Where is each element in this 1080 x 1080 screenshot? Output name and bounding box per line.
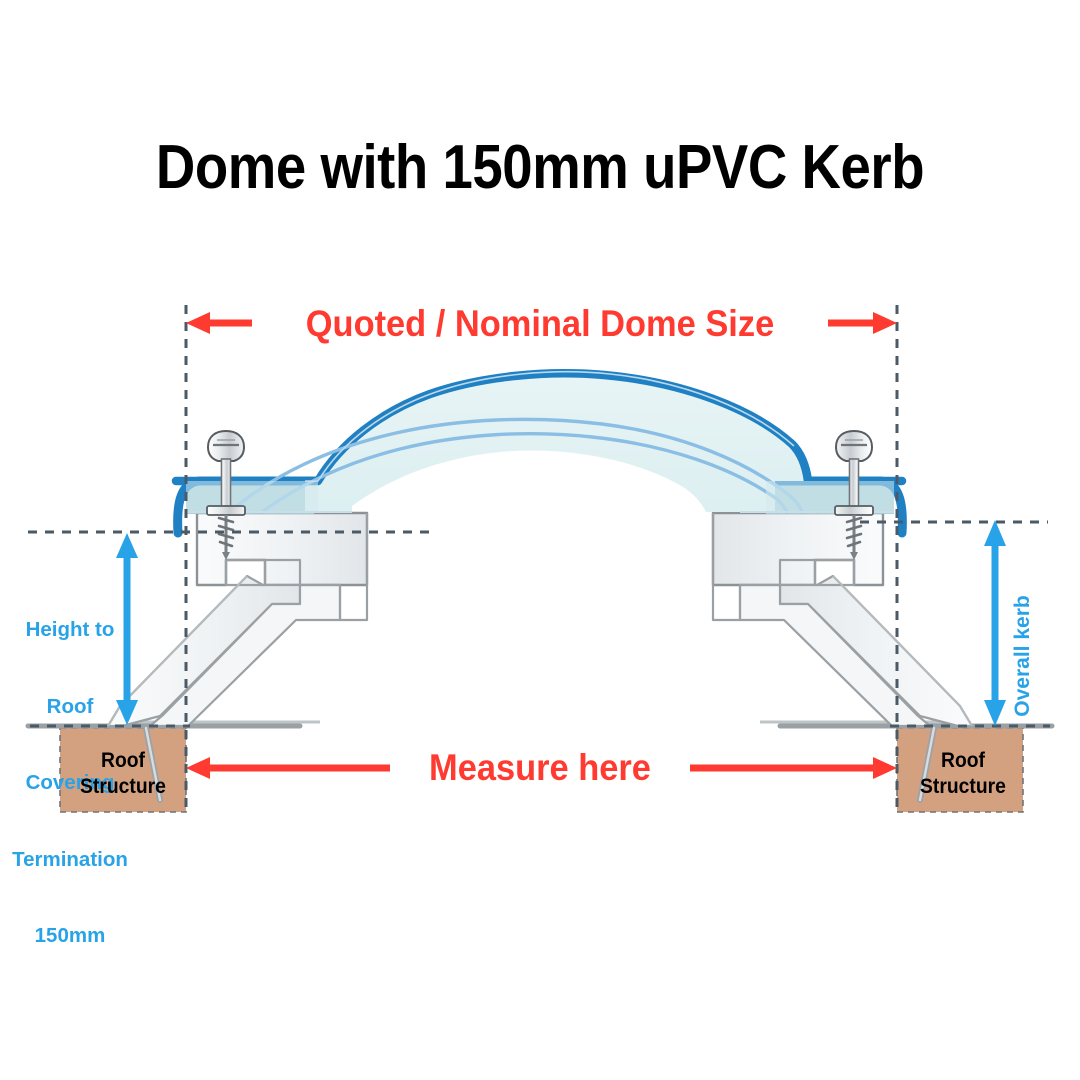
left-height-line-1: Height to bbox=[4, 617, 136, 643]
label-roof-structure-right: Roof Structure bbox=[905, 748, 1021, 800]
left-height-line-2: Roof bbox=[4, 694, 136, 720]
label-measure-here: Measure here bbox=[252, 747, 829, 789]
roof-right-line-1: Roof bbox=[905, 748, 1021, 774]
roof-left-line-1: Roof bbox=[65, 748, 181, 774]
page-title: Dome with 150mm uPVC Kerb bbox=[65, 132, 1015, 203]
diagram-canvas: Dome with 150mm uPVC Kerb Quoted / Nomin… bbox=[0, 0, 1080, 1080]
polycarbonate-dome bbox=[176, 372, 902, 512]
label-roof-structure-left: Roof Structure bbox=[65, 748, 181, 800]
upvc-kerb-left bbox=[108, 513, 367, 726]
label-quoted-nominal-dome-size: Quoted / Nominal Dome Size bbox=[255, 303, 824, 345]
roof-left-line-2: Structure bbox=[65, 774, 181, 800]
right-height-line-1: Overall kerb bbox=[1009, 556, 1036, 756]
left-height-line-5: 150mm bbox=[4, 923, 136, 949]
upvc-kerb-right bbox=[713, 513, 972, 726]
label-overall-kerb-height: Overall kerb Height 172mm bbox=[955, 556, 1080, 756]
roof-right-line-2: Structure bbox=[905, 774, 1021, 800]
left-height-line-4: Termination bbox=[4, 847, 136, 873]
